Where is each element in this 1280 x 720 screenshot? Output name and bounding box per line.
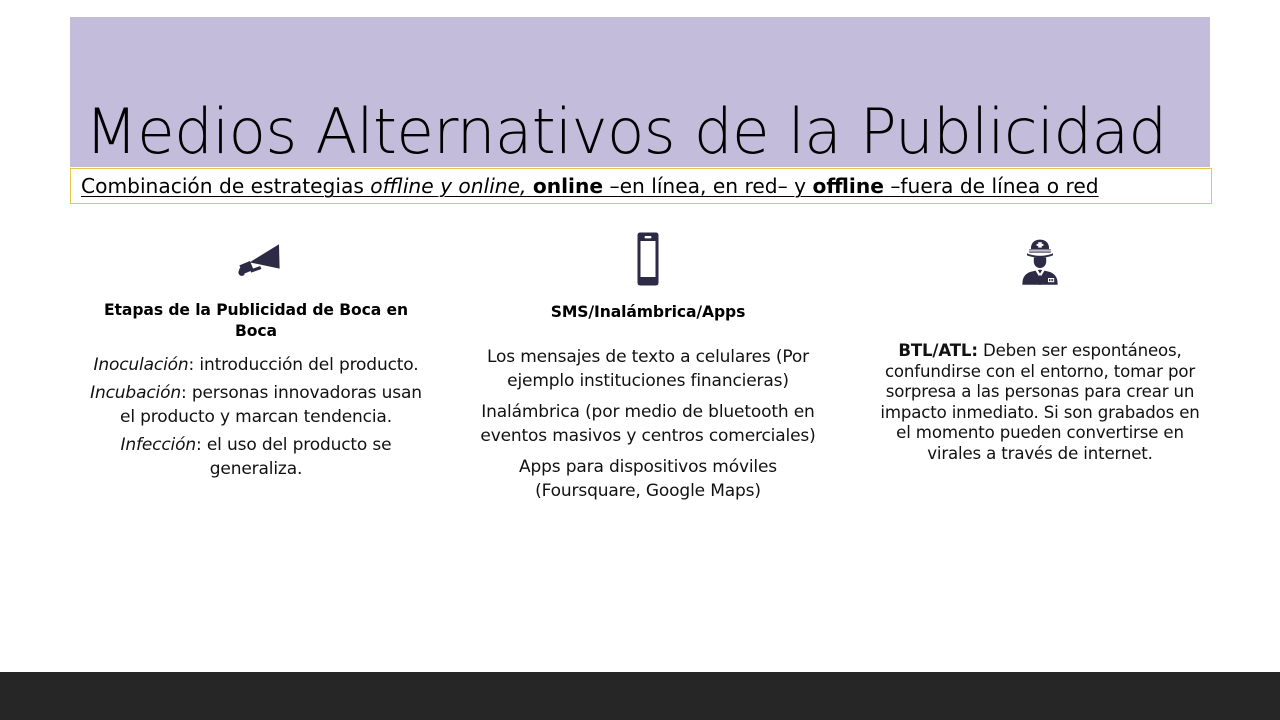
term-emphasis: Incubación — [90, 383, 181, 403]
subtitle-segment-bold-online: online — [533, 174, 603, 198]
page-title: Medios Alternativos de la Publicidad — [85, 101, 1185, 163]
subtitle-box: Combinación de estrategias offline y onl… — [70, 168, 1212, 204]
column-body: BTL/ATL: Deben ser espontáneos, confundi… — [872, 341, 1208, 464]
content-column-sms-inalambrica-apps: SMS/Inalámbrica/Apps Los mensajes de tex… — [480, 228, 816, 503]
item-text: Apps para dispositivos móviles (Foursqua… — [519, 457, 777, 501]
term-emphasis: BTL/ATL: — [898, 341, 977, 360]
column-body: Los mensajes de texto a celulares (Por e… — [480, 345, 816, 503]
subtitle-segment-bold-offline: offline — [812, 174, 883, 198]
list-item: BTL/ATL: Deben ser espontáneos, confundi… — [872, 341, 1208, 464]
column-heading: Etapas de la Publicidad de Boca en Boca — [88, 300, 424, 342]
item-text: Inalámbrica (por medio de bluetooth en e… — [480, 402, 815, 446]
footer-bar — [0, 672, 1280, 720]
list-item: Infección: el uso del producto se genera… — [88, 433, 424, 481]
list-item: Incubación: personas innovadoras usan el… — [88, 381, 424, 429]
subtitle-segment-plain-3: –fuera de línea o red — [884, 174, 1099, 198]
content-column-boca-en-boca: Etapas de la Publicidad de Boca en Boca … — [88, 228, 424, 481]
megaphone-icon — [88, 228, 424, 286]
title-banner: Medios Alternativos de la Publicidad — [70, 17, 1210, 167]
term-description: : el uso del producto se generaliza. — [196, 435, 391, 479]
column-heading: SMS/Inalámbrica/Apps — [480, 302, 816, 323]
slide-canvas: Medios Alternativos de la Publicidad Com… — [0, 0, 1280, 720]
list-item: Inalámbrica (por medio de bluetooth en e… — [480, 400, 816, 448]
subtitle-segment-plain-1: Combinación de estrategias — [81, 174, 370, 198]
term-emphasis: Inoculación — [94, 355, 189, 375]
subtitle-segment-plain-2: –en línea, en red– y — [603, 174, 812, 198]
column-body: Inoculación: introducción del producto. … — [88, 353, 424, 481]
term-description: : introducción del producto. — [189, 355, 419, 375]
list-item: Apps para dispositivos móviles (Foursqua… — [480, 455, 816, 503]
list-item: Los mensajes de texto a celulares (Por e… — [480, 345, 816, 393]
content-column-btl-atl: BTL/ATL: Deben ser espontáneos, confundi… — [872, 228, 1208, 464]
term-emphasis: Infección — [121, 435, 196, 455]
subtitle-segment-italic: offline y online, — [370, 174, 526, 198]
police-officer-icon — [872, 228, 1208, 286]
item-text: Los mensajes de texto a celulares (Por e… — [487, 347, 809, 391]
mobile-phone-icon — [480, 228, 816, 286]
subtitle-text: Combinación de estrategias offline y onl… — [81, 173, 1099, 199]
list-item: Inoculación: introducción del producto. — [88, 353, 424, 377]
